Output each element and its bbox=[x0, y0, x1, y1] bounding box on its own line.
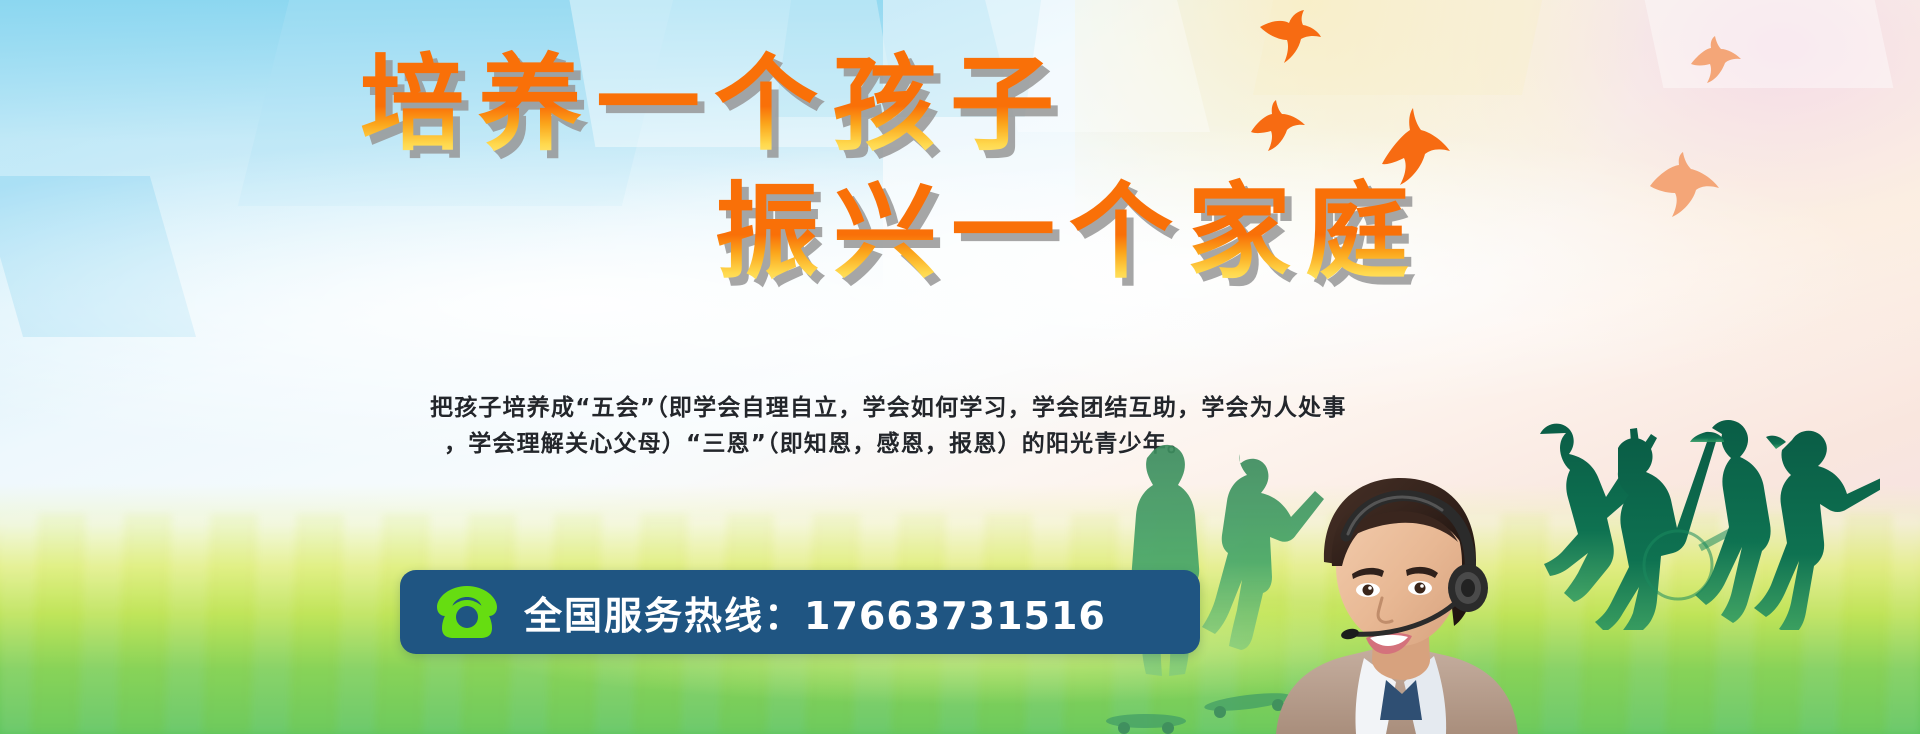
hotline-label: 全国服务热线： bbox=[524, 594, 804, 638]
headline-line-1: 培养一个孩子 bbox=[0, 48, 1630, 160]
headline-block: 培养一个孩子 振兴一个家庭 bbox=[0, 48, 1630, 289]
description-line-1: 把孩子培养成“五会”（即学会自理自立，学会如何学习，学会团结互助，学会为人处事 bbox=[430, 390, 1550, 426]
bird-4-icon bbox=[1690, 36, 1742, 84]
description-line-2: ，学会理解关心父母）“三恩”（即知恩，感恩，报恩）的阳光青少年。 bbox=[430, 426, 1550, 462]
headline-line-2: 振兴一个家庭 bbox=[0, 176, 1630, 288]
hotline-number: 17663731516 bbox=[804, 594, 1106, 638]
youth-group-silhouette bbox=[1500, 370, 1880, 630]
hotline-banner[interactable]: 全国服务热线：17663731516 bbox=[400, 570, 1200, 654]
background-facet bbox=[1639, 0, 1894, 88]
bird-5-icon bbox=[1648, 152, 1720, 218]
operator-with-headset-photo bbox=[1268, 470, 1536, 734]
promo-banner: 培养一个孩子 振兴一个家庭 把孩子培养成“五会”（即学会自理自立，学会如何学习，… bbox=[0, 0, 1920, 734]
telephone-icon bbox=[436, 584, 498, 640]
description-block: 把孩子培养成“五会”（即学会自理自立，学会如何学习，学会团结互助，学会为人处事 … bbox=[430, 390, 1550, 462]
